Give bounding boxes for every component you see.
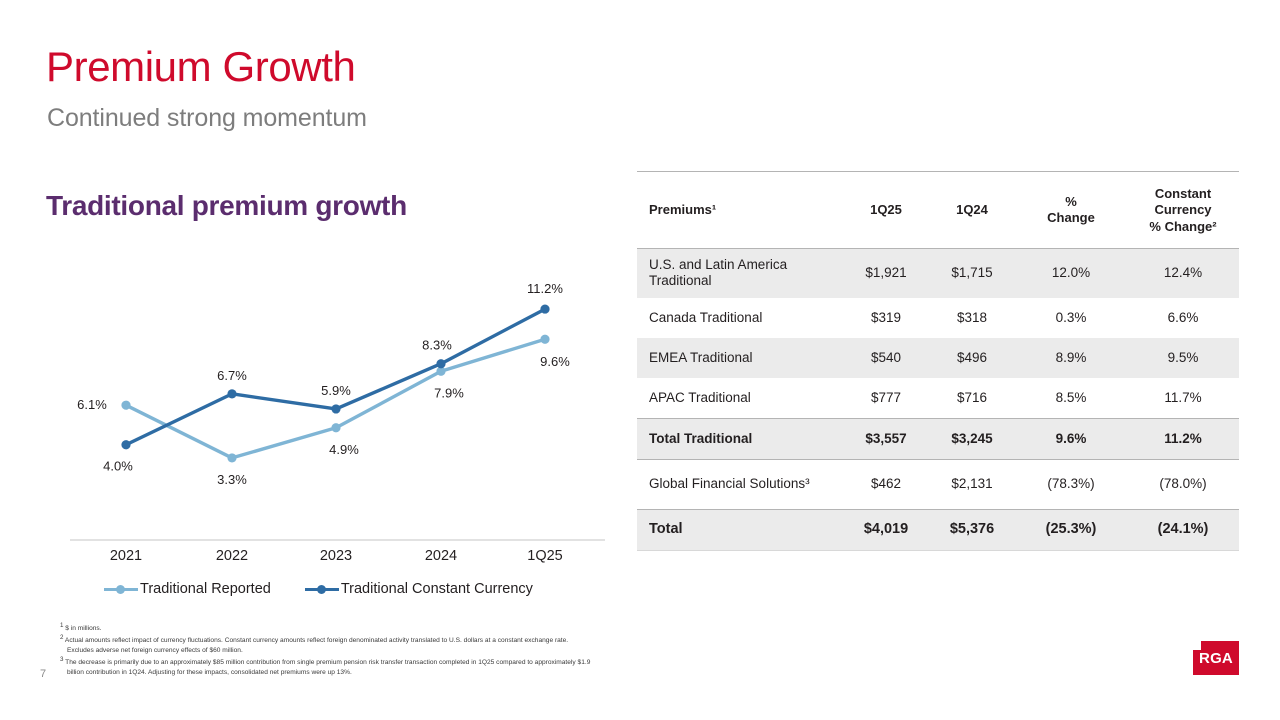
chart-canvas: 6.1%3.3%4.9%7.9%9.6%4.0%6.7%5.9%8.3%11.2… [60, 248, 620, 548]
footnote-text-continuation: billion contribution in 1Q24. Adjusting … [60, 668, 960, 678]
cell-1q24: $318 [929, 298, 1015, 338]
cell-row-label: U.S. and Latin America Traditional [637, 248, 843, 298]
rga-logo: RGA [1193, 641, 1239, 675]
page-subtitle: Continued strong momentum [47, 104, 367, 133]
table-row: Total Traditional$3,557$3,2459.6%11.2% [637, 418, 1239, 459]
column-header-pct-change: % Change [1015, 172, 1127, 249]
footnote-text: Actual amounts reflect impact of currenc… [63, 637, 568, 644]
x-axis-label-2022: 2022 [216, 548, 248, 564]
legend-line-marker-icon [104, 583, 138, 595]
legend-item-traditional-reported: Traditional Reported [104, 581, 271, 597]
cell-1q25: $3,557 [843, 418, 929, 459]
x-axis-label-1q25: 1Q25 [527, 548, 562, 564]
cell-cc-pct-change: (78.0%) [1127, 459, 1239, 509]
logo-text: RGA [1199, 650, 1233, 667]
data-point-label: 9.6% [540, 354, 570, 369]
cc-line3: % Change² [1149, 219, 1216, 234]
data-point-label: 6.1% [77, 397, 107, 412]
data-point-marker [331, 404, 340, 413]
cell-cc-pct-change: 12.4% [1127, 248, 1239, 298]
chart-heading: Traditional premium growth [46, 190, 407, 222]
data-point-marker [540, 335, 549, 344]
data-point-label: 5.9% [321, 383, 351, 398]
cell-pct-change: 9.6% [1015, 418, 1127, 459]
column-header-1q24: 1Q24 [929, 172, 1015, 249]
premiums-table-container: Premiums¹ 1Q25 1Q24 % Change Constant Cu… [637, 171, 1239, 551]
series-line-traditional-reported [126, 339, 545, 458]
data-point-label: 6.7% [217, 368, 247, 383]
table-row: Global Financial Solutions³$462$2,131(78… [637, 459, 1239, 509]
table-row: APAC Traditional$777$7168.5%11.7% [637, 378, 1239, 419]
premium-growth-chart: 6.1%3.3%4.9%7.9%9.6%4.0%6.7%5.9%8.3%11.2… [60, 248, 620, 548]
table-row: U.S. and Latin America Traditional$1,921… [637, 248, 1239, 298]
cell-1q24: $2,131 [929, 459, 1015, 509]
table-row: Total$4,019$5,376(25.3%)(24.1%) [637, 509, 1239, 550]
data-point-marker [540, 304, 549, 313]
data-point-label: 7.9% [434, 385, 464, 400]
cell-1q24: $5,376 [929, 509, 1015, 550]
footnotes: 1 $ in millions.2 Actual amounts reflect… [60, 624, 960, 680]
cell-pct-change: (25.3%) [1015, 509, 1127, 550]
cell-cc-pct-change: 9.5% [1127, 338, 1239, 378]
page-title: Premium Growth [46, 44, 355, 90]
cell-1q25: $462 [843, 459, 929, 509]
data-point-label: 8.3% [422, 338, 452, 353]
footnote-text-continuation: Excludes adverse net foreign currency ef… [60, 646, 960, 656]
cell-cc-pct-change: 6.6% [1127, 298, 1239, 338]
cell-1q25: $777 [843, 378, 929, 419]
x-axis-category-labels: 20212022202320241Q25 [60, 548, 605, 574]
cell-pct-change: 12.0% [1015, 248, 1127, 298]
chart-legend: Traditional Reported Traditional Constan… [104, 581, 533, 597]
cc-line1: Constant [1155, 186, 1211, 201]
cell-1q24: $3,245 [929, 418, 1015, 459]
table-header-row: Premiums¹ 1Q25 1Q24 % Change Constant Cu… [637, 172, 1239, 249]
data-point-marker [331, 423, 340, 432]
data-point-marker [436, 359, 445, 368]
legend-line-marker-icon [305, 583, 339, 595]
data-point-marker [121, 440, 130, 449]
column-header-constant-currency-pct-change: Constant Currency % Change² [1127, 172, 1239, 249]
x-axis-label-2024: 2024 [425, 548, 457, 564]
cell-1q25: $540 [843, 338, 929, 378]
legend-item-traditional-constant-currency: Traditional Constant Currency [305, 581, 533, 597]
cell-row-label: EMEA Traditional [637, 338, 843, 378]
table-row: EMEA Traditional$540$4968.9%9.5% [637, 338, 1239, 378]
cell-row-label: Total Traditional [637, 418, 843, 459]
footnote-text: $ in millions. [63, 625, 101, 632]
cell-row-label: Global Financial Solutions³ [637, 459, 843, 509]
data-point-label: 4.9% [329, 442, 359, 457]
x-axis-label-2023: 2023 [320, 548, 352, 564]
cell-cc-pct-change: 11.7% [1127, 378, 1239, 419]
footnote: 1 $ in millions. [60, 624, 960, 634]
pct-change-line2: Change [1047, 210, 1095, 225]
cell-row-label: Total [637, 509, 843, 550]
cc-line2: Currency [1154, 202, 1211, 217]
cell-1q24: $1,715 [929, 248, 1015, 298]
slide: Premium Growth Continued strong momentum… [0, 0, 1280, 720]
series-data-labels: 6.1%3.3%4.9%7.9%9.6%4.0%6.7%5.9%8.3%11.2… [77, 281, 570, 487]
page-number: 7 [40, 668, 46, 680]
footnote-text: The decrease is primarily due to an appr… [63, 659, 590, 666]
data-point-marker [121, 401, 130, 410]
logo-notch-icon [1193, 641, 1201, 650]
table-row: Canada Traditional$319$3180.3%6.6% [637, 298, 1239, 338]
cell-1q24: $716 [929, 378, 1015, 419]
premiums-table: Premiums¹ 1Q25 1Q24 % Change Constant Cu… [637, 171, 1239, 551]
x-axis-label-2021: 2021 [110, 548, 142, 564]
cell-pct-change: 8.5% [1015, 378, 1127, 419]
cell-cc-pct-change: (24.1%) [1127, 509, 1239, 550]
cell-pct-change: 0.3% [1015, 298, 1127, 338]
footnote: 3 The decrease is primarily due to an ap… [60, 658, 960, 678]
footnote: 2 Actual amounts reflect impact of curre… [60, 636, 960, 656]
cell-1q25: $1,921 [843, 248, 929, 298]
table-body: U.S. and Latin America Traditional$1,921… [637, 248, 1239, 550]
data-point-label: 4.0% [103, 459, 133, 474]
data-point-marker [227, 453, 236, 462]
cell-cc-pct-change: 11.2% [1127, 418, 1239, 459]
cell-1q24: $496 [929, 338, 1015, 378]
legend-label: Traditional Reported [140, 581, 271, 597]
column-header-1q25: 1Q25 [843, 172, 929, 249]
pct-change-line1: % [1065, 194, 1077, 209]
cell-pct-change: 8.9% [1015, 338, 1127, 378]
cell-pct-change: (78.3%) [1015, 459, 1127, 509]
data-point-label: 3.3% [217, 472, 247, 487]
cell-row-label: APAC Traditional [637, 378, 843, 419]
data-point-marker [227, 389, 236, 398]
table-head: Premiums¹ 1Q25 1Q24 % Change Constant Cu… [637, 172, 1239, 249]
cell-row-label: Canada Traditional [637, 298, 843, 338]
cell-1q25: $319 [843, 298, 929, 338]
legend-label: Traditional Constant Currency [341, 581, 533, 597]
column-header-premiums: Premiums¹ [637, 172, 843, 249]
cell-1q25: $4,019 [843, 509, 929, 550]
data-point-label: 11.2% [527, 281, 563, 296]
